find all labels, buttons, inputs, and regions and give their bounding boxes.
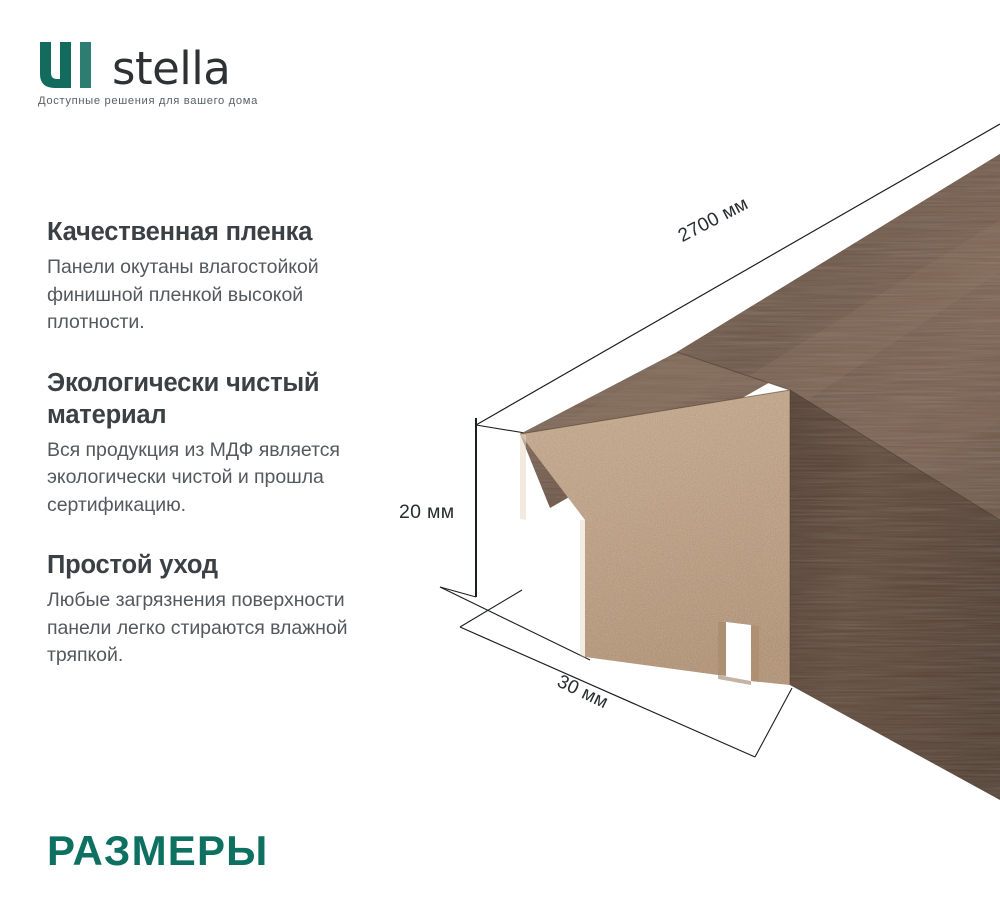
- mdf-slat-panel-3d-icon: [380, 100, 1000, 800]
- feature-body: Вся продукция из МДФ является экологичес…: [47, 437, 397, 520]
- feature-title: Простой уход: [47, 549, 397, 581]
- feature-body: Любые загрязнения поверхности панели лег…: [47, 587, 397, 670]
- brand-wordmark: stella: [112, 47, 230, 91]
- feature-item: Простой уход Любые загрязнения поверхнос…: [47, 549, 397, 670]
- stella-bars-logo-icon: [38, 42, 98, 88]
- panel-groove-shading: [718, 621, 759, 685]
- dimension-label-height: 20 мм: [399, 501, 454, 524]
- infographic-page: stella Доступные решения для вашего дома…: [0, 0, 1000, 900]
- feature-title: Экологически чистый материал: [47, 367, 397, 431]
- feature-title: Качественная пленка: [47, 216, 397, 248]
- feature-body: Панели окутаны влагостойкой финишной пле…: [47, 254, 397, 337]
- feature-list: Качественная пленка Панели окутаны влаго…: [47, 216, 397, 670]
- logo-row: stella: [38, 40, 368, 88]
- brand-tagline: Доступные решения для вашего дома: [38, 95, 368, 107]
- section-heading-sizes: РАЗМЕРЫ: [47, 827, 269, 875]
- brand-logo: stella Доступные решения для вашего дома: [38, 40, 368, 107]
- feature-item: Экологически чистый материал Вся продукц…: [47, 367, 397, 520]
- feature-item: Качественная пленка Панели окутаны влаго…: [47, 216, 397, 337]
- product-dimension-diagram: 2700 мм 20 мм 30 мм: [380, 100, 1000, 800]
